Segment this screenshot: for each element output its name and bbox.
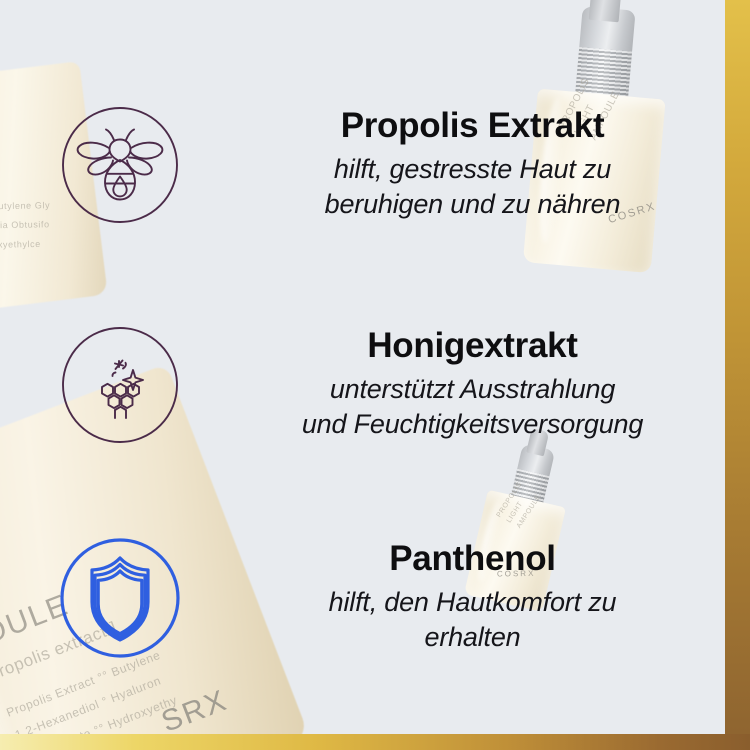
ingredient-row-panthenol: Panthenol hilft, den Hautkomfort zu erha…	[0, 505, 725, 690]
infographic-canvas: OLIS ULE xtract/] olis Extract °° Butyle…	[0, 0, 750, 750]
ingredient-description-line-1: hilft, den Hautkomfort zu	[240, 585, 705, 620]
ingredient-text-cell: Propolis Extrakt hilft, gestresste Haut …	[240, 107, 725, 222]
bee-icon	[61, 106, 179, 224]
honeycomb-icon	[61, 326, 179, 444]
ingredient-title: Panthenol	[240, 540, 705, 578]
ingredient-icon-cell	[0, 534, 240, 662]
ingredient-title: Honigextrakt	[240, 327, 705, 365]
ingredient-description-line-1: unterstützt Ausstrahlung	[240, 372, 705, 407]
ingredient-description-line-1: hilft, gestresste Haut zu	[240, 152, 705, 187]
ingredient-row-honey: Honigextrakt unterstützt Ausstrahlung un…	[0, 292, 725, 477]
ingredient-icon-cell	[0, 106, 240, 224]
ingredient-text-cell: Panthenol hilft, den Hautkomfort zu erha…	[240, 540, 725, 655]
ingredient-icon-cell	[0, 326, 240, 444]
gold-edge-bottom	[0, 734, 750, 750]
shield-icon	[56, 534, 184, 662]
ingredient-text-cell: Honigextrakt unterstützt Ausstrahlung un…	[240, 327, 725, 442]
ingredient-description-line-2: erhalten	[240, 620, 705, 655]
ingredient-description-line-2: beruhigen und zu nähren	[240, 187, 705, 222]
ingredient-row-propolis: Propolis Extrakt hilft, gestresste Haut …	[0, 72, 725, 257]
ingredient-title: Propolis Extrakt	[240, 107, 705, 145]
ingredient-description-line-2: und Feuchtigkeitsversorgung	[240, 407, 705, 442]
gold-edge-right	[725, 0, 750, 750]
